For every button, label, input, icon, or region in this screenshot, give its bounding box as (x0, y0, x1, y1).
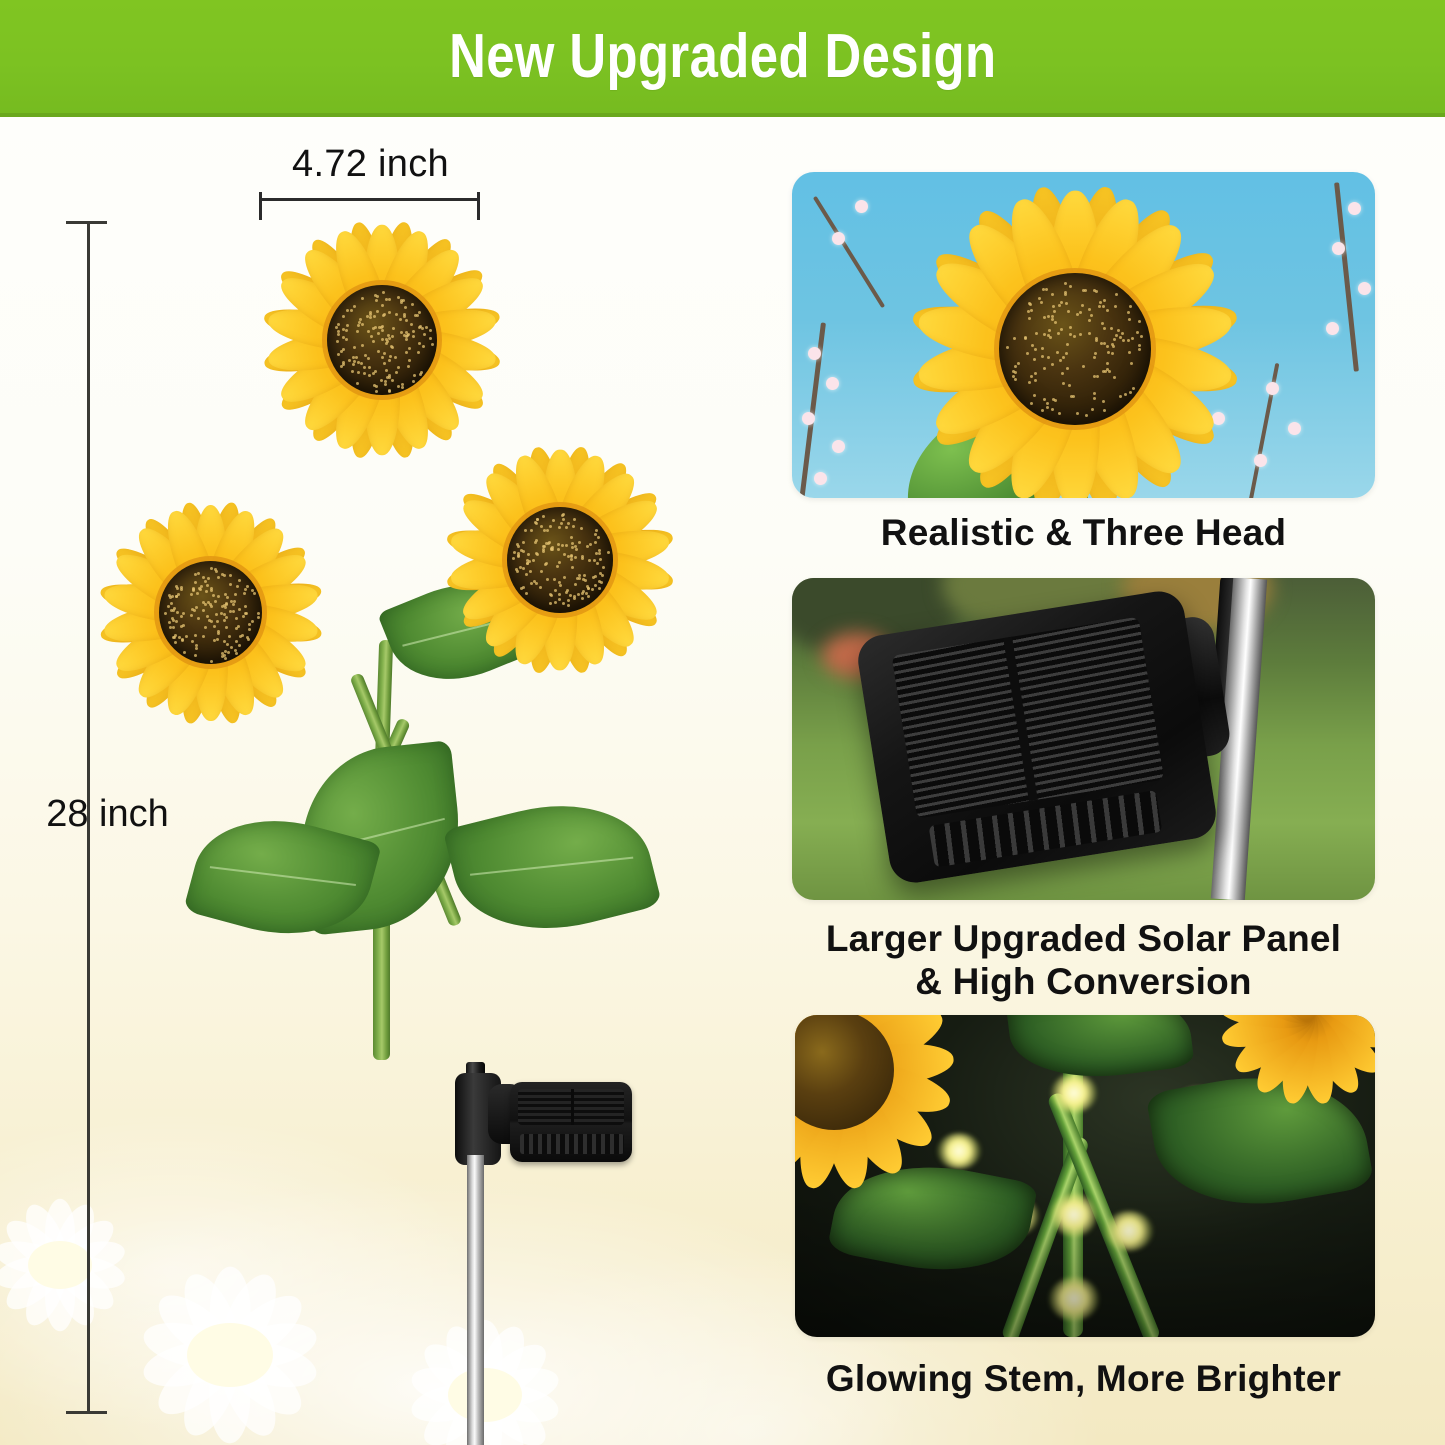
feature-caption-glowing-stem: Glowing Stem, More Brighter (792, 1358, 1375, 1401)
panel2-solar-module (854, 588, 1219, 887)
width-dimension-label: 4.72 inch (258, 143, 483, 186)
page-title: New Upgraded Design (449, 26, 996, 88)
solar-vents (520, 1134, 624, 1154)
sunflower-head-left (98, 500, 323, 725)
leaf-right (443, 783, 662, 951)
feature-image-solar-panel (792, 578, 1375, 900)
panel1-sunflower (910, 184, 1240, 498)
feature-image-realistic-three-head (792, 172, 1375, 498)
feature-image-glowing-stem (795, 1015, 1375, 1337)
feature-caption-solar-panel: Larger Upgraded Solar Panel & High Conve… (792, 918, 1375, 1004)
stake-pole (467, 1155, 484, 1445)
sunflower-head-right (445, 445, 675, 675)
solar-panel-module (510, 1082, 632, 1162)
feature-caption-realistic: Realistic & Three Head (792, 512, 1375, 555)
product-infographic: New Upgraded Design 4.72 inch 28 inch (0, 0, 1445, 1445)
solar-cells (518, 1089, 624, 1125)
panel3-vignette (795, 1015, 1375, 1337)
panel2-solar-cells (892, 617, 1165, 819)
product-image-main (90, 200, 730, 1430)
header-banner: New Upgraded Design (0, 0, 1445, 117)
blossom-branch-upper-left (813, 196, 885, 308)
sunflower-head-top (262, 220, 502, 460)
